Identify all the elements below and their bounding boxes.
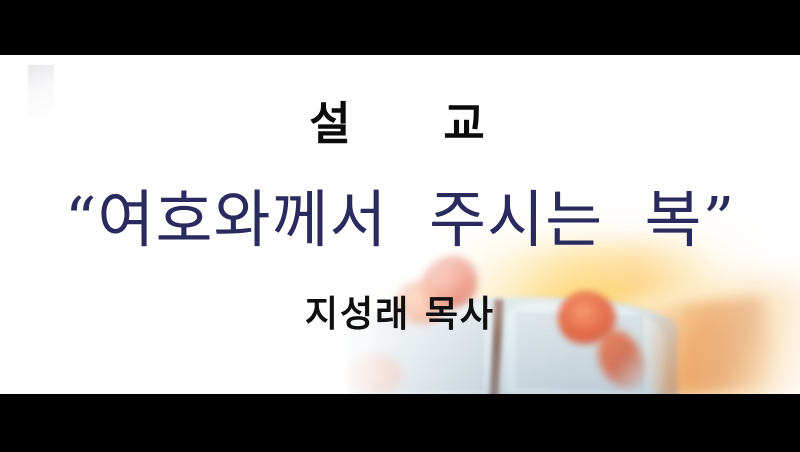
sermon-heading: 설 교 <box>0 101 800 146</box>
video-frame: 설 교 “여호와께서 주시는 복” 지성래 목사 <box>0 0 800 452</box>
speaker-name: 지성래 목사 <box>0 297 800 333</box>
title-card-text: 설 교 “여호와께서 주시는 복” 지성래 목사 <box>0 55 800 394</box>
sermon-title: “여호와께서 주시는 복” <box>0 187 800 253</box>
letterbox-bottom <box>0 394 800 452</box>
letterbox-top <box>0 0 800 55</box>
